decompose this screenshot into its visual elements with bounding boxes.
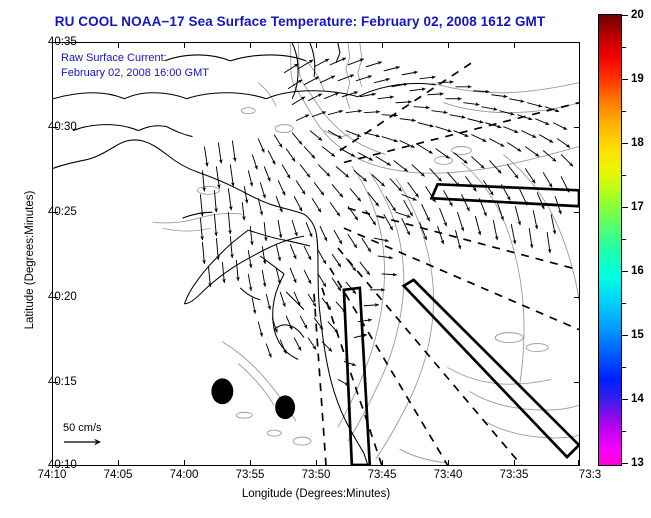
coastline	[53, 43, 436, 465]
page-title: RU COOL NOAA−17 Sea Surface Temperature:…	[0, 14, 600, 29]
x-tick-top	[118, 42, 119, 48]
x-tick	[316, 460, 317, 466]
colorbar-label-value: 19	[631, 73, 644, 85]
colorbar-tick	[622, 79, 628, 80]
radar-station-markers	[211, 378, 295, 419]
y-tick-right	[574, 42, 580, 43]
colorbar-label-value: 16	[631, 265, 644, 277]
x-tick-label: 74:05	[104, 469, 133, 481]
colorbar-tick	[622, 335, 628, 336]
figure: RU COOL NOAA−17 Sea Surface Temperature:…	[0, 0, 651, 518]
y-tick-label: 40:25	[48, 206, 77, 218]
y-tick-right	[574, 297, 580, 298]
x-tick-label: 73:40	[434, 469, 463, 481]
colorbar-minor-tick	[622, 111, 626, 112]
x-tick	[382, 460, 383, 466]
colorbar-minor-tick	[622, 239, 626, 240]
x-tick-top	[514, 42, 515, 48]
x-tick-label: 73:35	[500, 469, 529, 481]
colorbar-tick	[622, 207, 628, 208]
x-tick	[514, 460, 515, 466]
x-tick	[448, 460, 449, 466]
y-tick-right	[574, 127, 580, 128]
temperature-colorbar[interactable]	[598, 14, 622, 466]
colorbar-label-value: 17	[631, 201, 644, 213]
x-tick-label: 73:45	[368, 469, 397, 481]
x-tick	[578, 460, 579, 466]
y-tick-right	[574, 212, 580, 213]
x-tick-top	[448, 42, 449, 48]
x-tick-label: 73:55	[236, 469, 265, 481]
y-tick-right	[574, 382, 580, 383]
x-tick-label: 73:50	[302, 469, 331, 481]
y-tick-label: 40:10	[48, 459, 77, 471]
colorbar-minor-tick	[622, 431, 626, 432]
colorbar-tick	[622, 143, 628, 144]
colorbar-minor-tick	[622, 47, 626, 48]
x-tick-top	[316, 42, 317, 48]
colorbar-label-value: 20	[631, 9, 644, 21]
y-axis-title: Latitude (Degrees:Minutes)	[24, 150, 36, 370]
y-tick-label: 40:30	[48, 121, 77, 133]
map-plot-area[interactable]: Raw Surface Current: February 02, 2008 1…	[52, 42, 580, 466]
colorbar-tick	[622, 399, 628, 400]
y-tick-label: 40:15	[48, 376, 77, 388]
colorbar-label-value: 13	[631, 457, 644, 469]
colorbar-minor-tick	[622, 175, 626, 176]
colorbar-tick	[622, 15, 628, 16]
colorbar-tick	[622, 463, 628, 464]
map-canvas	[53, 43, 579, 465]
y-tick-label: 40:35	[48, 36, 77, 48]
x-tick-label: 73:3	[579, 469, 601, 481]
x-tick-top	[382, 42, 383, 48]
x-axis-title: Longitude (Degrees:Minutes)	[52, 488, 580, 500]
x-tick	[118, 460, 119, 466]
colorbar-label-value: 15	[631, 329, 644, 341]
x-tick	[184, 460, 185, 466]
x-tick-top	[184, 42, 185, 48]
colorbar-minor-tick	[622, 303, 626, 304]
x-tick	[250, 460, 251, 466]
colorbar-minor-tick	[622, 367, 626, 368]
y-tick-label: 40:20	[48, 291, 77, 303]
colorbar-label-value: 18	[631, 137, 644, 149]
colorbar-label-value: 14	[631, 393, 644, 405]
colorbar-tick	[622, 271, 628, 272]
surface-current-vectors	[200, 58, 573, 385]
x-tick-label: 74:00	[170, 469, 199, 481]
x-tick-top	[250, 42, 251, 48]
